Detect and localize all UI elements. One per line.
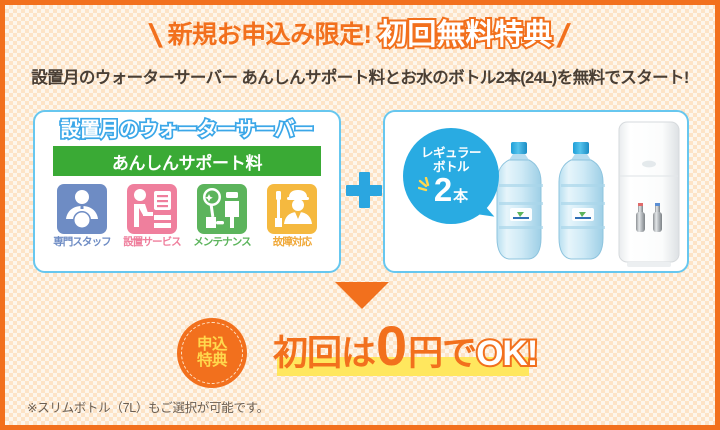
bubble-count-unit: 本 [453,189,468,204]
maintenance-icon [197,184,247,234]
headline-plain-text: 新規お申込み限定! [168,23,372,48]
plus-icon [346,172,382,208]
slash-right-decoration: / [555,19,572,52]
zero-yen-headline: 初回は 0 円で OK! [273,318,573,380]
offer-cards-row: 設置月のウォーターサーバー あんしんサポート料 専門スタッフ [5,110,715,280]
subheadline-text: 設置月のウォーターサーバー あんしんサポート料とお水のボトル2本(24L)を無料… [5,69,715,89]
service-label-maintenance: メンテナンス [190,237,254,248]
service-item-maintenance: メンテナンス [190,184,254,248]
service-item-staff: 専門スタッフ [50,184,114,248]
ok-label: OK! [476,336,537,371]
footnote-text: ※スリムボトル（7L）もご選択が可能です。 [27,397,269,416]
support-card-title: 設置月のウォーターサーバー [35,119,339,141]
bubble-count-number: 2 [434,173,452,206]
bubble-count-row: 2 本 [434,173,468,206]
service-label-staff: 専門スタッフ [50,237,114,248]
sparkle-icon [418,177,435,194]
down-arrow-icon [335,282,389,309]
service-icon-list: 専門スタッフ [35,184,339,248]
badge-line-2: 特典 [197,353,227,369]
service-item-installation: 設置サービス [120,184,184,248]
slash-left-decoration: \ [147,19,164,52]
price-suffix-text: 円で [408,336,476,371]
badge-line-1: 申込 [197,337,227,353]
support-plan-card: 設置月のウォーターサーバー あんしんサポート料 専門スタッフ [33,110,341,273]
offer-summary-row: 申込 特典 初回は 0 円で OK! [5,310,715,390]
headline-outlined-text: 初回無料特典 [378,21,552,50]
promo-banner: \ 新規お申込み限定! 初回無料特典 / 設置月のウォーターサーバー あんしんサ… [0,0,720,430]
service-label-repair: 故障対応 [260,237,324,248]
staff-icon [57,184,107,234]
water-bottles-image [493,140,611,262]
regular-bottle-bubble: レギュラー ボトル 2 本 [403,128,499,224]
banner-header: \ 新規お申込み限定! 初回無料特典 / [5,19,715,52]
water-server-image [613,120,685,270]
installation-icon [127,184,177,234]
headline-row: \ 新規お申込み限定! 初回無料特典 / [151,19,568,52]
repair-icon [267,184,317,234]
price-prefix-text: 初回は [273,336,375,371]
service-label-installation: 設置サービス [120,237,184,248]
service-item-repair: 故障対応 [260,184,324,248]
badge-text: 申込 特典 [197,337,227,370]
bottles-and-server-card: レギュラー ボトル 2 本 [383,110,689,273]
price-amount: 0 [376,318,407,374]
support-fee-banner: あんしんサポート料 [53,146,321,176]
application-bonus-badge: 申込 特典 [177,318,247,388]
bubble-line-1: レギュラー [421,146,481,160]
